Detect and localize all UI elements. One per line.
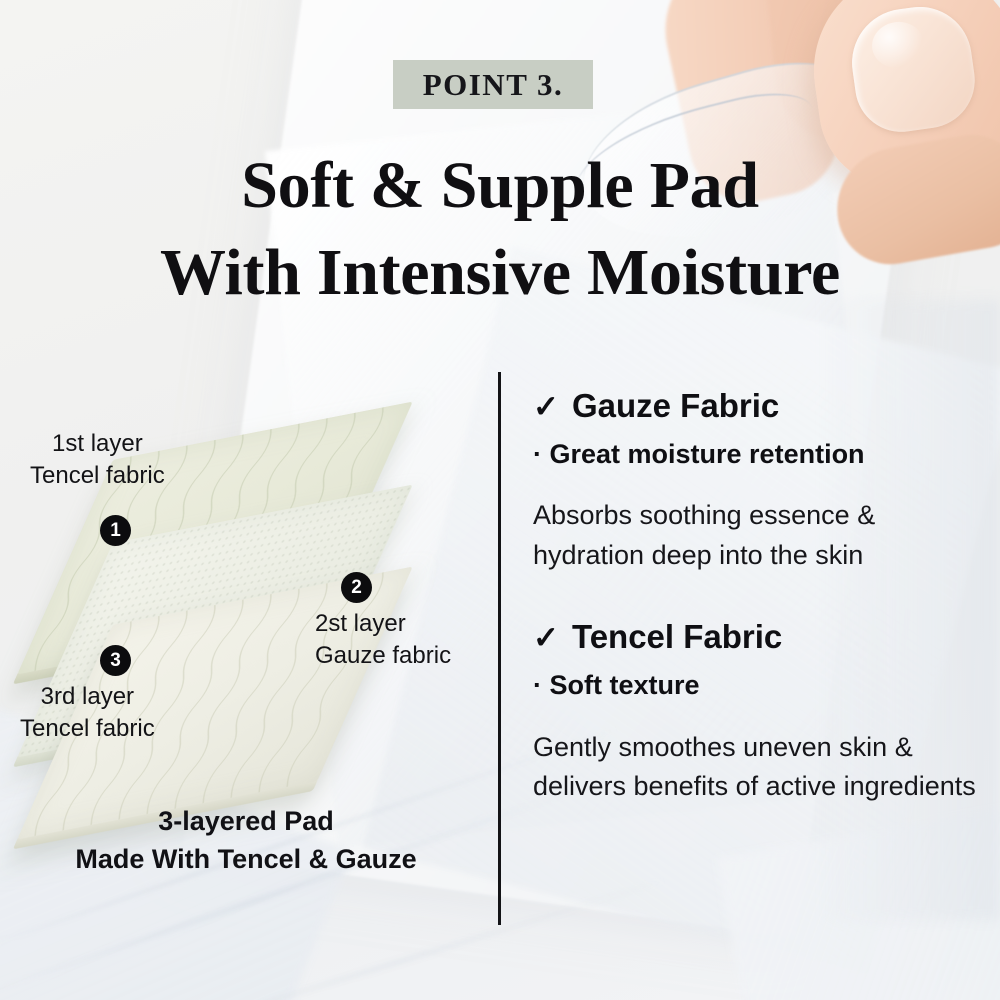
diagram-caption-line-1: 3-layered Pad <box>0 802 492 840</box>
feature-1-bullet: · Great moisture retention <box>533 437 985 472</box>
layer-2-label-line-2: Gauze fabric <box>315 640 451 672</box>
point-badge-label: POINT 3. <box>423 67 564 103</box>
feature-1-body: Absorbs soothing essence & hydration dee… <box>533 496 985 575</box>
feature-2-body: Gently smoothes uneven skin & delivers b… <box>533 728 985 807</box>
diagram-caption: 3-layered Pad Made With Tencel & Gauze <box>0 802 492 879</box>
page-title: Soft & Supple Pad With Intensive Moistur… <box>0 142 1000 316</box>
point-badge: POINT 3. <box>393 60 593 109</box>
feature-list: ✓ Gauze Fabric · Great moisture retentio… <box>533 386 985 812</box>
headline-line-1: Soft & Supple Pad <box>0 142 1000 229</box>
feature-gauze-fabric: ✓ Gauze Fabric · Great moisture retentio… <box>533 386 985 575</box>
layer-1-label: 1st layer Tencel fabric <box>30 428 165 491</box>
layer-3-label-line-1: 3rd layer <box>20 681 155 713</box>
layer-number-badge-3: 3 <box>100 645 131 676</box>
diagram-caption-line-2: Made With Tencel & Gauze <box>0 840 492 878</box>
headline-line-2: With Intensive Moisture <box>0 229 1000 316</box>
feature-1-title-row: ✓ Gauze Fabric <box>533 386 985 426</box>
layer-2-label-line-1: 2st layer <box>315 608 451 640</box>
check-icon: ✓ <box>533 391 559 422</box>
infographic-canvas: POINT 3. Soft & Supple Pad With Intensiv… <box>0 0 1000 1000</box>
feature-2-title: Tencel Fabric <box>572 617 782 657</box>
feature-1-title: Gauze Fabric <box>572 386 779 426</box>
layer-number-badge-1: 1 <box>100 515 131 546</box>
feature-2-bullet: · Soft texture <box>533 668 985 703</box>
layer-1-label-line-1: 1st layer <box>30 428 165 460</box>
layer-2-label: 2st layer Gauze fabric <box>315 608 451 671</box>
column-divider <box>498 372 501 925</box>
feature-2-title-row: ✓ Tencel Fabric <box>533 617 985 657</box>
feature-tencel-fabric: ✓ Tencel Fabric · Soft texture Gently sm… <box>533 617 985 806</box>
layer-1-label-line-2: Tencel fabric <box>30 460 165 492</box>
check-icon: ✓ <box>533 622 559 653</box>
layer-number-badge-2: 2 <box>341 572 372 603</box>
layer-3-label: 3rd layer Tencel fabric <box>20 681 155 744</box>
layer-3-label-line-2: Tencel fabric <box>20 713 155 745</box>
